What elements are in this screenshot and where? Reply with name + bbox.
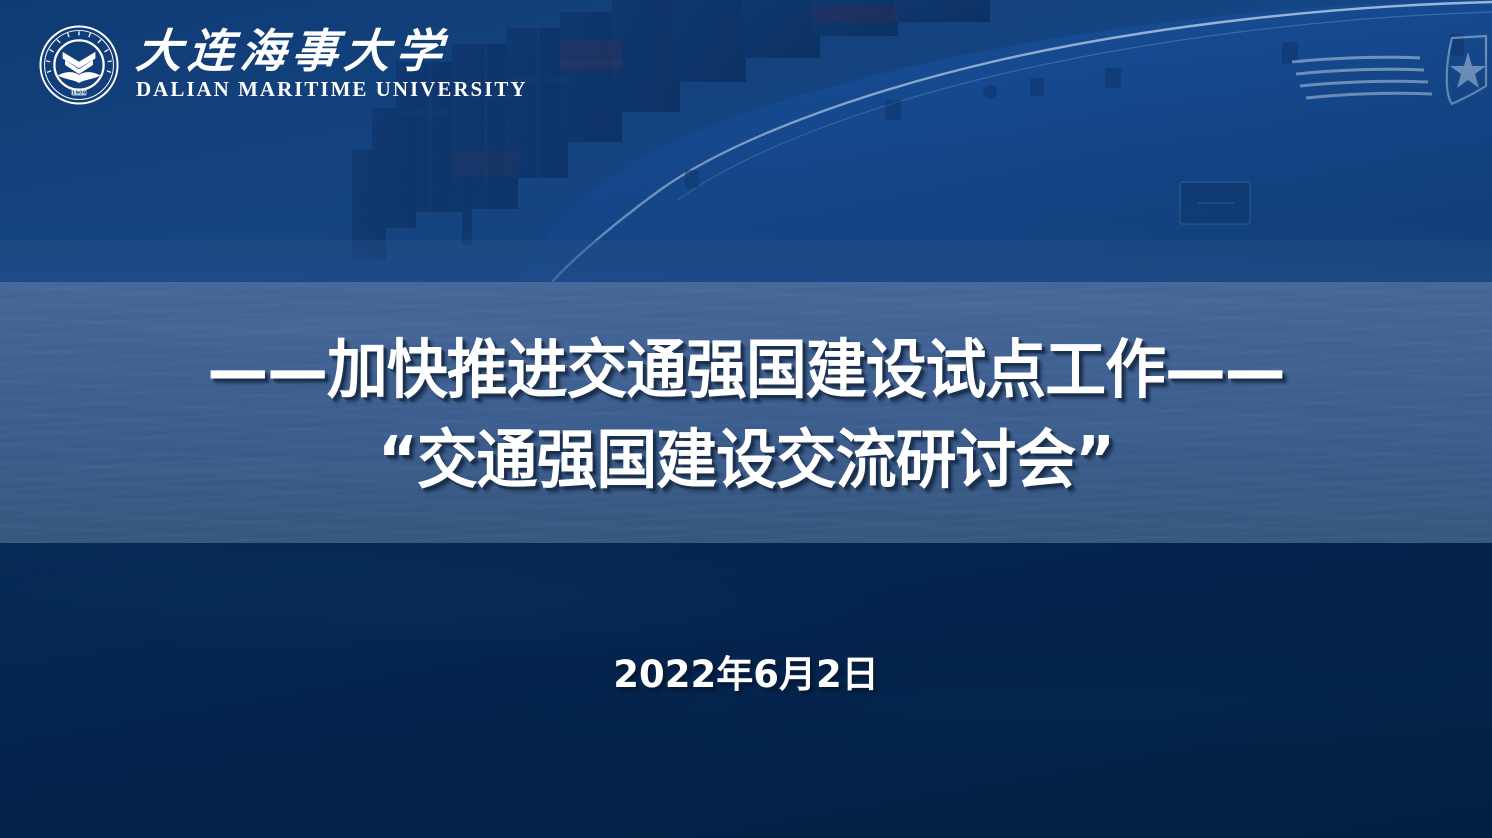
title-line-2: “交通强国建设交流研讨会” <box>37 420 1454 502</box>
slide-title-block: ——加快推进交通强国建设试点工作—— “交通强国建设交流研讨会” <box>0 330 1492 502</box>
title-slide: 1909 大连海事大学 DALIAN MARITIME UNIVERSITY —… <box>0 0 1492 838</box>
university-crest-icon: 1909 <box>38 24 120 106</box>
university-logo: 1909 大连海事大学 DALIAN MARITIME UNIVERSITY <box>38 24 528 106</box>
university-logo-text: 大连海事大学 DALIAN MARITIME UNIVERSITY <box>136 28 528 102</box>
title-line-1: ——加快推进交通强国建设试点工作—— <box>37 330 1454 412</box>
university-name-en: DALIAN MARITIME UNIVERSITY <box>136 77 528 102</box>
crest-year-text: 1909 <box>72 91 87 97</box>
slide-date: 2022年6月2日 <box>0 652 1492 698</box>
university-name-cn: 大连海事大学 <box>134 28 449 75</box>
